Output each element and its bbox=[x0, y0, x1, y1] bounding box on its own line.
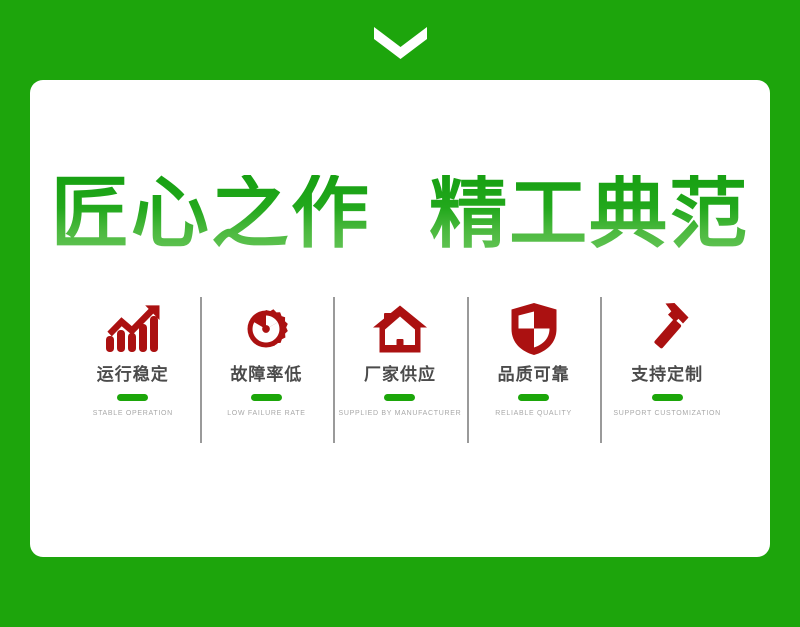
feature-rule bbox=[518, 394, 549, 401]
hammer-icon bbox=[642, 299, 692, 359]
feature-title: 支持定制 bbox=[631, 365, 703, 385]
feature-title: 故障率低 bbox=[230, 365, 302, 385]
feature-rule bbox=[117, 394, 148, 401]
feature-item-reliable-quality[interactable]: 品质可靠 RELIABLE QUALITY bbox=[467, 297, 601, 457]
page-title: 匠心之作 精工典范 bbox=[30, 175, 770, 253]
feature-item-support-customization[interactable]: 支持定制 SUPPORT CUSTOMIZATION bbox=[600, 297, 734, 457]
factory-house-icon bbox=[372, 299, 428, 359]
feature-list: 运行稳定 STABLE OPERATION 故障 bbox=[66, 297, 734, 457]
feature-subtitle: SUPPLIED BY MANUFACTURER bbox=[339, 410, 462, 417]
feature-title: 运行稳定 bbox=[97, 365, 169, 385]
feature-subtitle: SUPPORT CUSTOMIZATION bbox=[613, 410, 721, 417]
feature-title: 厂家供应 bbox=[364, 365, 436, 385]
feature-subtitle: STABLE OPERATION bbox=[93, 410, 173, 417]
chevron-down-icon bbox=[374, 27, 427, 59]
top-chevron-area bbox=[0, 0, 800, 80]
feature-rule bbox=[251, 394, 282, 401]
feature-rule bbox=[652, 394, 683, 401]
gear-icon bbox=[240, 299, 292, 359]
feature-rule bbox=[384, 394, 415, 401]
feature-item-supplied-by-manufacturer[interactable]: 厂家供应 SUPPLIED BY MANUFACTURER bbox=[333, 297, 467, 457]
feature-title: 品质可靠 bbox=[498, 365, 570, 385]
growth-bar-chart-icon bbox=[105, 299, 161, 359]
feature-item-stable-operation[interactable]: 运行稳定 STABLE OPERATION bbox=[66, 297, 200, 457]
shield-icon bbox=[510, 299, 558, 359]
feature-subtitle: RELIABLE QUALITY bbox=[495, 410, 572, 417]
content-card: 匠心之作 精工典范 运行稳定 STABL bbox=[30, 80, 770, 557]
feature-item-low-failure-rate[interactable]: 故障率低 LOW FAILURE RATE bbox=[200, 297, 334, 457]
feature-subtitle: LOW FAILURE RATE bbox=[227, 410, 305, 417]
